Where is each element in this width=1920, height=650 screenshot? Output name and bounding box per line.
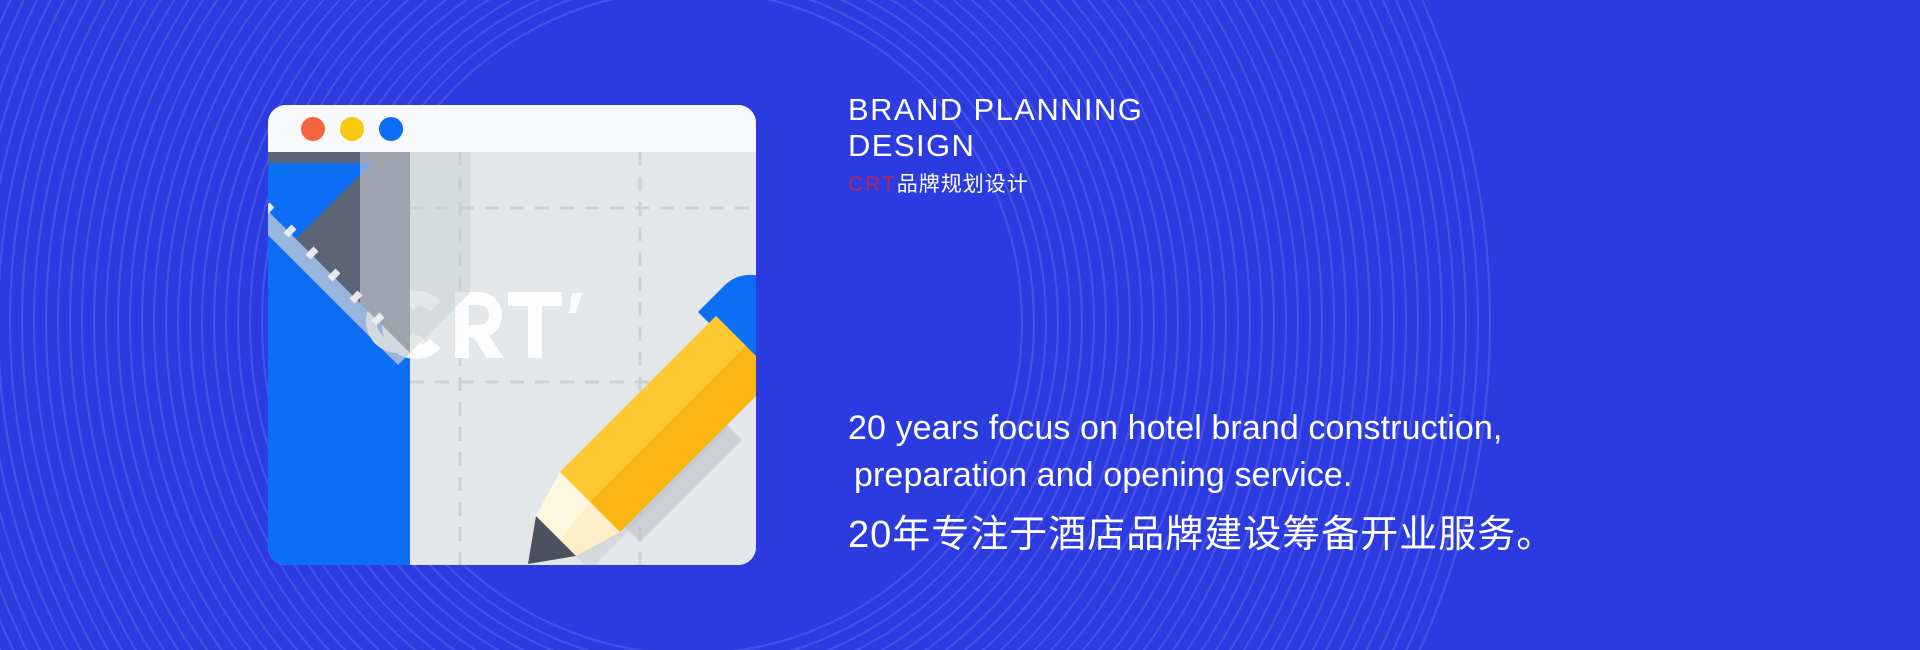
brand-banner: BRAND PLANNING DESIGN CRT品牌规划设计 20 years… bbox=[0, 0, 1920, 650]
browser-window-card bbox=[178, 105, 811, 570]
banner-text-column: BRAND PLANNING DESIGN CRT品牌规划设计 20 years… bbox=[848, 0, 1920, 650]
heading-line-1: BRAND PLANNING bbox=[848, 92, 1143, 127]
heading-line-2: DESIGN bbox=[848, 128, 975, 163]
subtitle-chinese: CRT品牌规划设计 bbox=[848, 172, 1029, 198]
subtitle-chinese-text: 品牌规划设计 bbox=[897, 173, 1029, 196]
tagline-chinese: 20年专注于酒店品牌建设筹备开业服务。 bbox=[848, 510, 1555, 560]
brand-mark-crt: CRT bbox=[848, 173, 897, 196]
page-title: BRAND PLANNING DESIGN bbox=[848, 92, 1308, 164]
minimize-dot-icon bbox=[340, 117, 364, 141]
tagline-en-line-1: 20 years focus on hotel brand constructi… bbox=[848, 409, 1502, 447]
tagline-en-line-2: preparation and opening service. bbox=[848, 452, 1668, 499]
brand-illustration bbox=[0, 0, 960, 650]
close-dot-icon bbox=[301, 117, 325, 141]
maximize-dot-icon bbox=[379, 117, 403, 141]
tagline-english: 20 years focus on hotel brand constructi… bbox=[848, 405, 1668, 499]
